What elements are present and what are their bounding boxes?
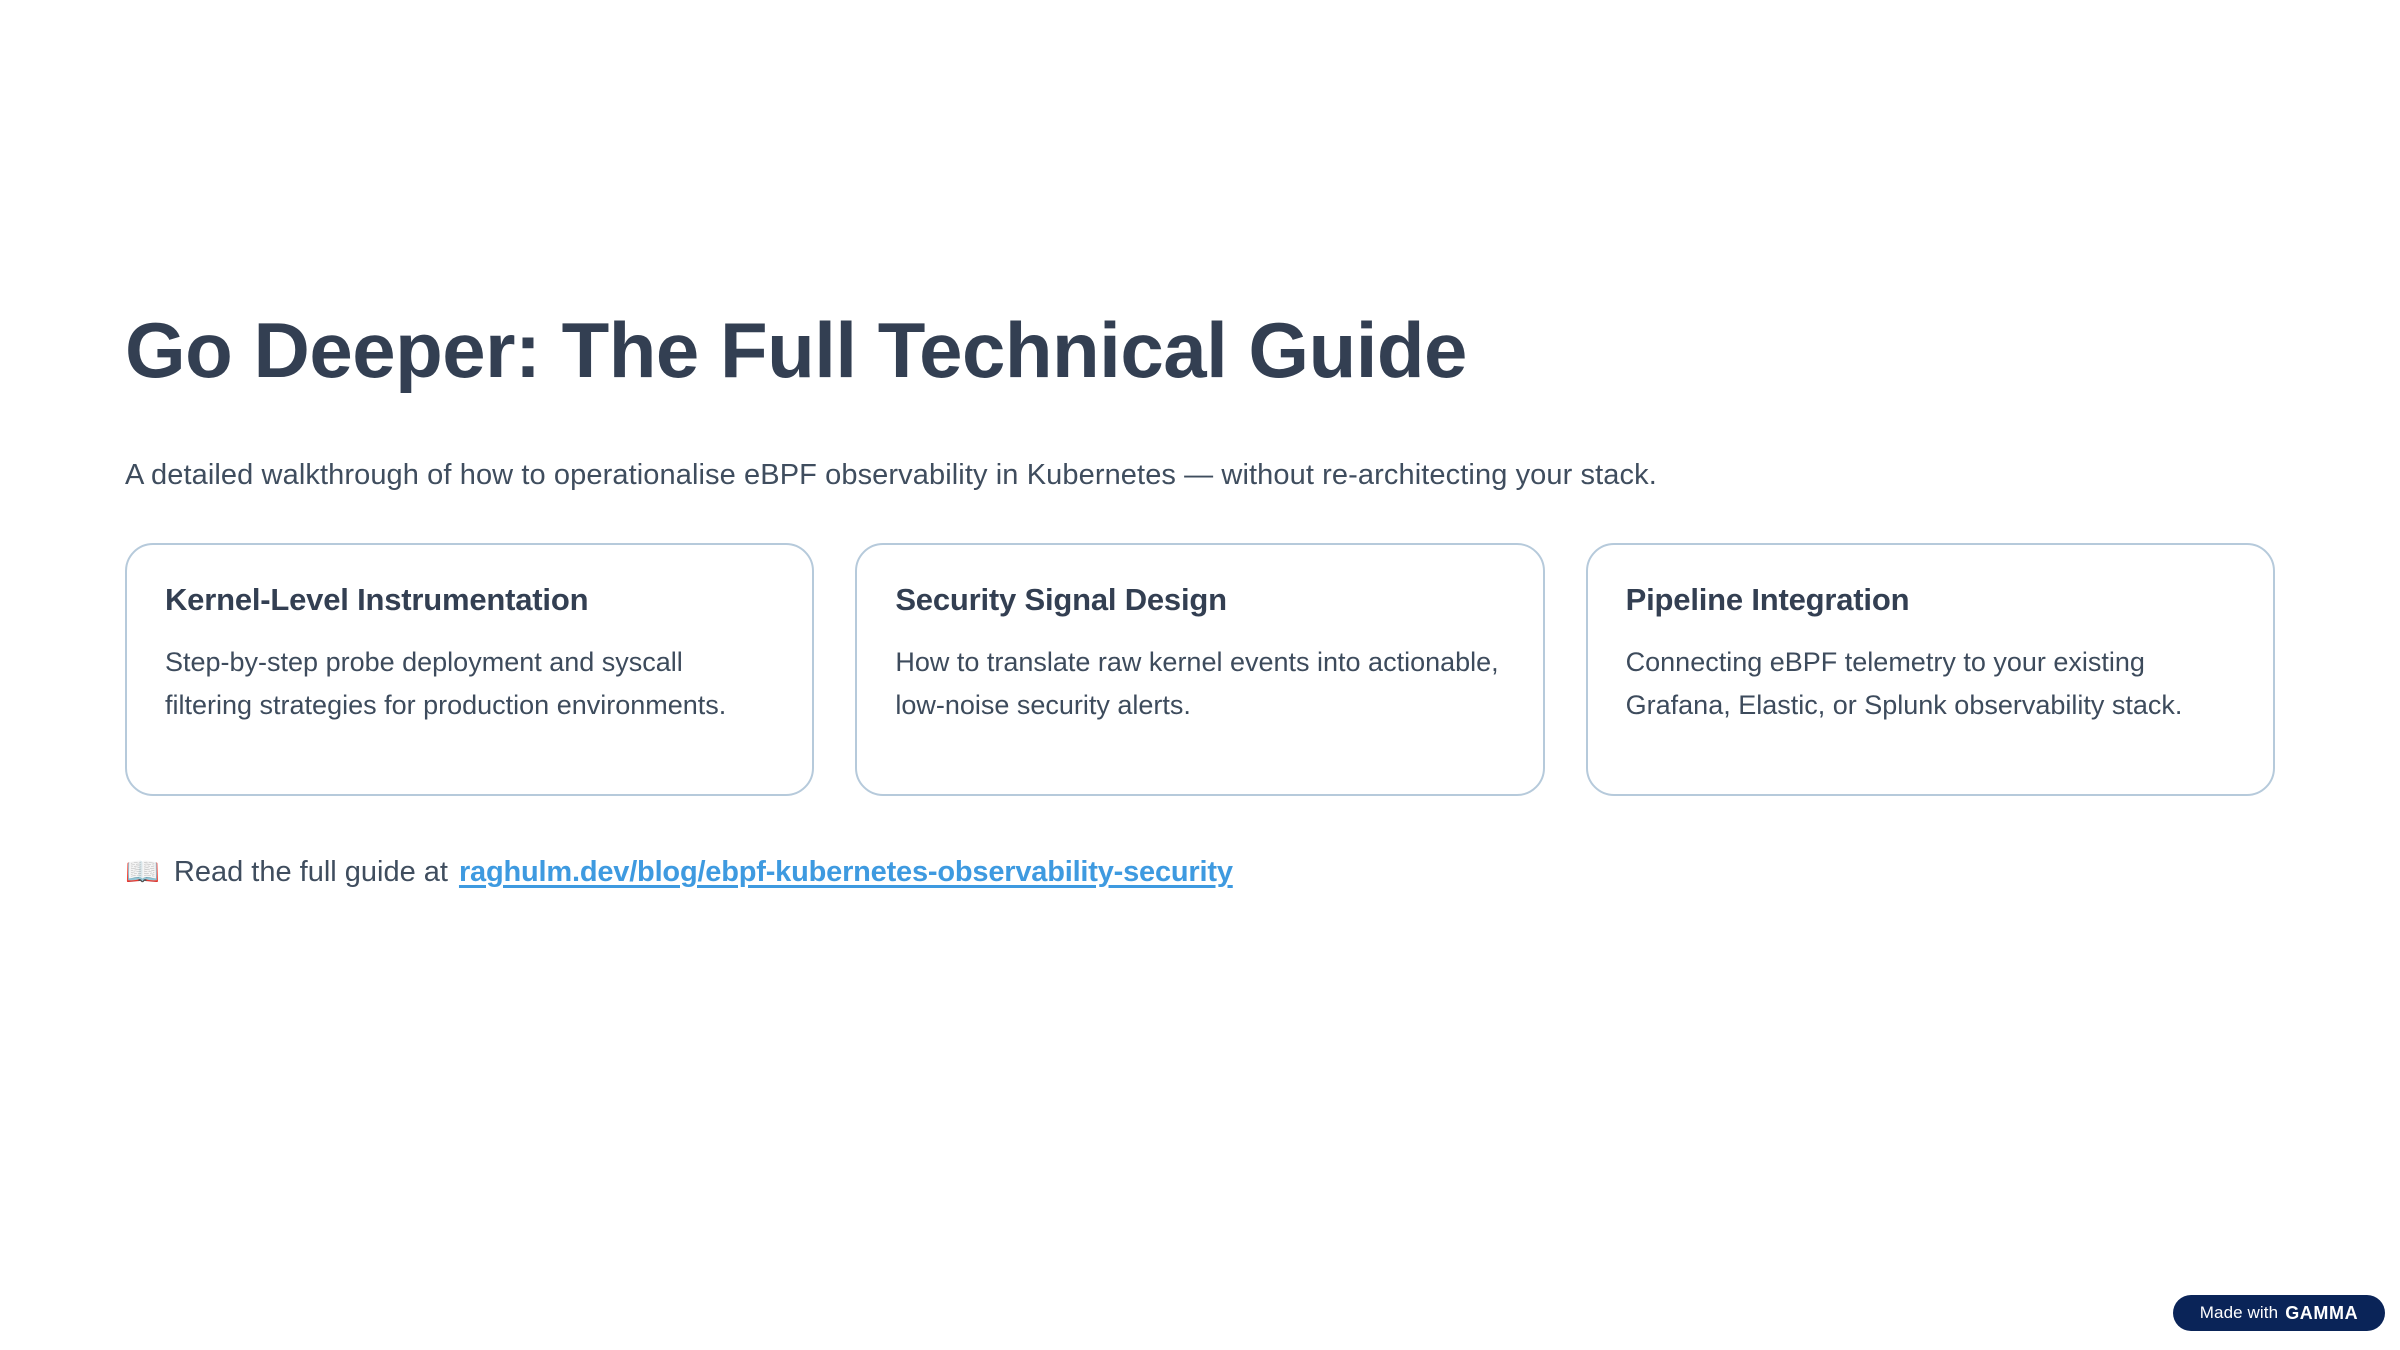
guide-url-link[interactable]: raghulm.dev/blog/ebpf-kubernetes-observa… [459, 852, 1233, 893]
open-book-icon: 📖 [125, 858, 160, 886]
feature-card-group: Kernel-Level Instrumentation Step-by-ste… [125, 496, 2275, 796]
footer-cta-text: Read the full guide at [174, 852, 448, 893]
card-title: Pipeline Integration [1626, 581, 2235, 620]
slide-canvas: Go Deeper: The Full Technical Guide A de… [0, 0, 2400, 1350]
badge-prefix-label: Made with [2200, 1303, 2278, 1323]
feature-card-security-signal-design[interactable]: Security Signal Design How to translate … [855, 543, 1544, 796]
card-title: Kernel-Level Instrumentation [165, 581, 774, 620]
made-with-gamma-badge[interactable]: Made with GAMMA [2173, 1295, 2385, 1331]
card-body: How to translate raw kernel events into … [895, 620, 1504, 728]
slide-subtitle: A detailed walkthrough of how to operati… [125, 392, 2275, 496]
feature-card-kernel-level-instrumentation[interactable]: Kernel-Level Instrumentation Step-by-ste… [125, 543, 814, 796]
footer-cta-line: 📖 Read the full guide at raghulm.dev/blo… [125, 796, 2275, 893]
card-body: Connecting eBPF telemetry to your existi… [1626, 620, 2235, 728]
gamma-wordmark: GAMMA [2285, 1303, 2358, 1324]
slide-content: Go Deeper: The Full Technical Guide A de… [125, 310, 2275, 893]
feature-card-pipeline-integration[interactable]: Pipeline Integration Connecting eBPF tel… [1586, 543, 2275, 796]
card-title: Security Signal Design [895, 581, 1504, 620]
card-body: Step-by-step probe deployment and syscal… [165, 620, 774, 728]
page-title: Go Deeper: The Full Technical Guide [125, 310, 2275, 392]
